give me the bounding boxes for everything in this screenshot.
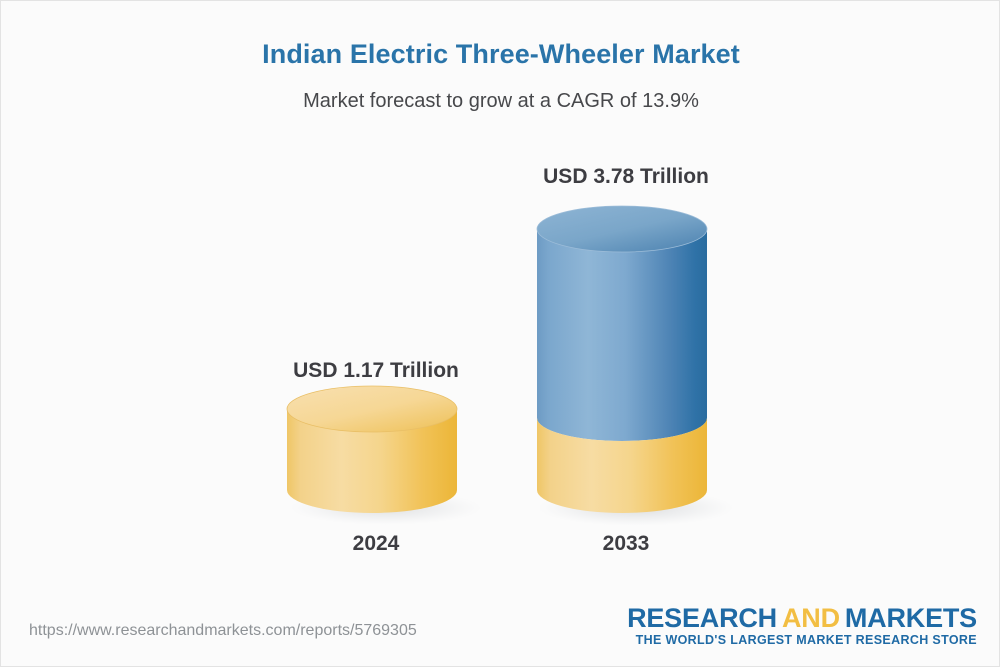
page-subtitle: Market forecast to grow at a CAGR of 13.… bbox=[1, 90, 1000, 113]
logo-word-and: AND bbox=[777, 603, 845, 633]
bar-cylinder-2024 bbox=[282, 383, 482, 529]
bar-body-blue-2033 bbox=[537, 229, 707, 441]
logo-tagline: THE WORLD'S LARGEST MARKET RESEARCH STOR… bbox=[627, 633, 977, 648]
page-title: Indian Electric Three-Wheeler Market bbox=[1, 39, 1000, 70]
logo-word-markets: MARKETS bbox=[845, 603, 977, 633]
logo-wordmark: RESEARCHANDMARKETS bbox=[627, 603, 977, 633]
data-label-2024: USD 1.17 Trillion bbox=[256, 359, 496, 383]
research-and-markets-logo[interactable]: RESEARCHANDMARKETS THE WORLD'S LARGEST M… bbox=[627, 603, 977, 648]
axis-label-2033: 2033 bbox=[506, 532, 746, 556]
data-label-2033: USD 3.78 Trillion bbox=[506, 165, 746, 189]
axis-label-2024: 2024 bbox=[256, 532, 496, 556]
chart-canvas: Indian Electric Three-Wheeler Market Mar… bbox=[0, 0, 1000, 667]
logo-word-research: RESEARCH bbox=[627, 603, 777, 633]
report-url[interactable]: https://www.researchandmarkets.com/repor… bbox=[29, 622, 417, 640]
bar-cylinder-2033 bbox=[532, 199, 732, 529]
